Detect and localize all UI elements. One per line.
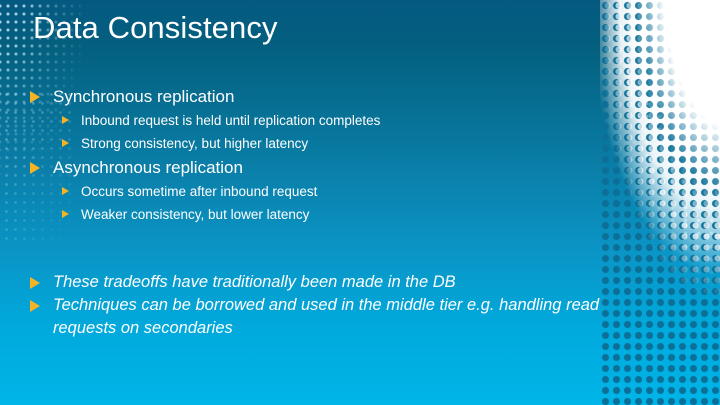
list-item-label: Inbound request is held until replicatio… (81, 109, 380, 132)
list-item-label: Occurs sometime after inbound request (81, 180, 317, 203)
list-item-label: Strong consistency, but higher latency (81, 132, 308, 155)
closing-bullet-list: These tradeoffs have traditionally been … (0, 271, 640, 340)
list-item-label: Asynchronous replication (53, 155, 243, 180)
triangle-bullet-icon (30, 277, 40, 289)
triangle-bullet-icon (62, 210, 69, 218)
list-item-label: Weaker consistency, but lower latency (81, 203, 309, 226)
triangle-bullet-icon (62, 116, 69, 124)
triangle-bullet-icon (62, 139, 69, 147)
list-item: Weaker consistency, but lower latency (0, 203, 620, 226)
list-item: Inbound request is held until replicatio… (0, 109, 620, 132)
list-item: Techniques can be borrowed and used in t… (0, 294, 640, 340)
triangle-bullet-icon (30, 300, 40, 312)
bullet-list: Synchronous replication Inbound request … (0, 84, 620, 226)
list-item: Occurs sometime after inbound request (0, 180, 620, 203)
list-item-label: These tradeoffs have traditionally been … (53, 271, 456, 294)
list-item-label: Synchronous replication (53, 84, 234, 109)
triangle-bullet-icon (30, 91, 40, 103)
list-item: Synchronous replication (0, 84, 620, 109)
slide-canvas: Data Consistency Synchronous replication… (0, 0, 720, 405)
triangle-bullet-icon (30, 162, 40, 174)
list-item: Strong consistency, but higher latency (0, 132, 620, 155)
slide-title: Data Consistency (33, 10, 278, 46)
triangle-bullet-icon (62, 187, 69, 195)
list-item: These tradeoffs have traditionally been … (0, 271, 640, 294)
list-item-label: Techniques can be borrowed and used in t… (53, 294, 613, 340)
list-item: Asynchronous replication (0, 155, 620, 180)
